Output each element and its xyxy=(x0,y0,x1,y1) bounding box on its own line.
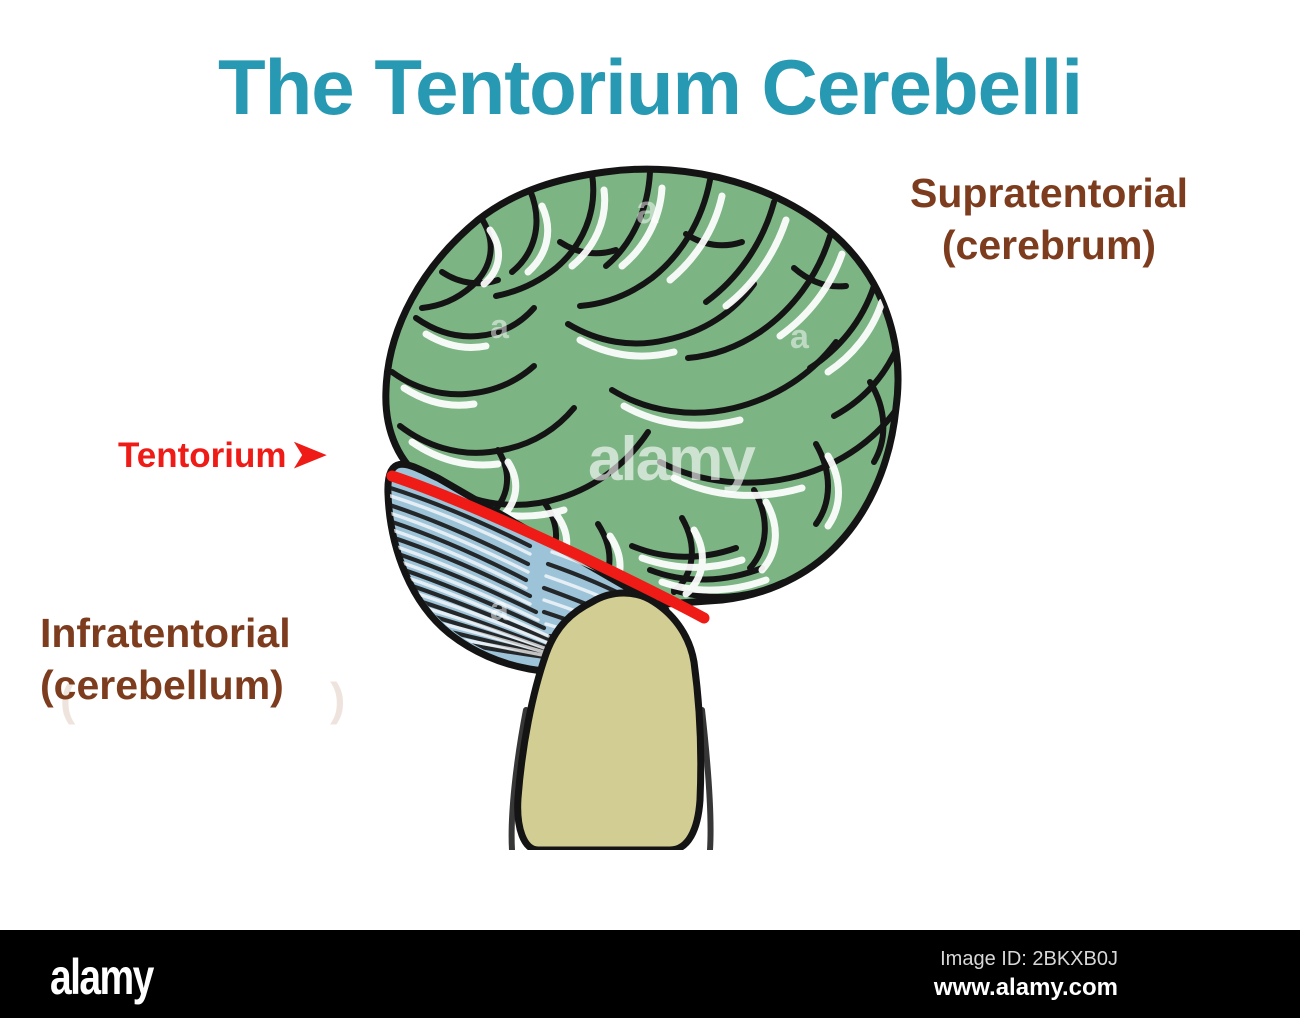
alamy-url-text: www.alamy.com xyxy=(934,974,1118,1002)
label-supratentorial-line2: (cerebrum) xyxy=(845,220,1253,272)
label-supratentorial-line1: Supratentorial xyxy=(845,168,1253,220)
label-supratentorial: Supratentorial (cerebrum) xyxy=(845,168,1253,271)
alamy-logo: alamy xyxy=(50,948,153,1006)
label-infratentorial: Infratentorial (cerebellum) xyxy=(40,608,460,711)
label-infratentorial-line1: Infratentorial xyxy=(40,608,460,660)
footer-watermark-bar: alamy Image ID: 2BKXB0J www.alamy.com xyxy=(0,930,1300,1018)
brain-illustration xyxy=(330,150,910,850)
image-id-text: Image ID: 2BKXB0J xyxy=(940,948,1118,971)
diagram-page: The Tentorium Cerebelli xyxy=(0,0,1300,1018)
label-tentorium-text: Tentorium xyxy=(118,436,287,476)
brain-diagram-svg xyxy=(330,150,910,850)
label-infratentorial-line2: (cerebellum) xyxy=(40,660,460,712)
page-title: The Tentorium Cerebelli xyxy=(0,42,1300,133)
arrow-right-icon: ➤ xyxy=(290,436,327,474)
label-tentorium: Tentorium ➤ xyxy=(118,436,324,476)
